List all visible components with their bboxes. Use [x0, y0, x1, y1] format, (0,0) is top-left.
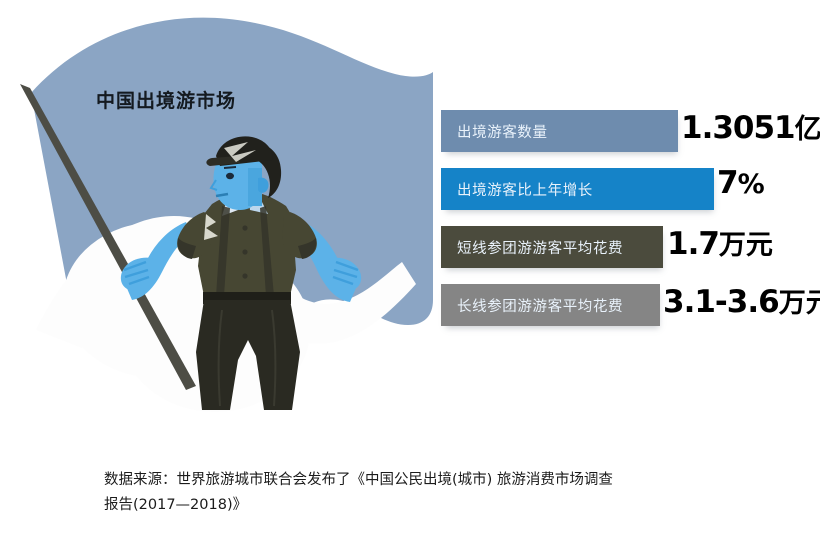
stat-bar-short-haul-spend: 短线参团游游客平均花费	[441, 226, 663, 268]
stat-value: 7%	[717, 165, 765, 201]
stats-list: 出境游客数量 1.3051亿人次 出境游客比上年增长 7% 短线参团游游客平均花…	[441, 104, 820, 336]
source-line-1: 数据来源：世界旅游城市联合会发布了《中国公民出境(城市) 旅游消费市场调查	[104, 468, 764, 493]
stat-row: 出境游客比上年增长 7%	[441, 162, 820, 220]
stat-unit: %	[738, 169, 765, 200]
eye	[226, 173, 234, 179]
flag-man-illustration	[0, 0, 440, 440]
stat-row: 长线参团游游客平均花费 3.1-3.6万元	[441, 278, 820, 336]
stat-number: 7	[717, 165, 738, 201]
stat-label: 出境游客数量	[441, 121, 548, 142]
shirt-button	[242, 249, 247, 254]
infographic-canvas: 中国出境游市场 出境游客数量 1.3051亿人次 出境游客比上年增长 7% 短线…	[0, 0, 820, 540]
stat-row: 出境游客数量 1.3051亿人次	[441, 104, 820, 162]
stat-label: 短线参团游游客平均花费	[441, 237, 623, 258]
stat-value: 1.3051亿人次	[681, 107, 820, 146]
stat-number: 3.1-3.6	[663, 284, 779, 320]
stat-unit: 亿人次	[795, 114, 820, 145]
stat-bar-outbound-tourist-count: 出境游客数量	[441, 110, 678, 152]
stat-label: 出境游客比上年增长	[441, 179, 593, 200]
source-line-2: 报告(2017—2018)》	[104, 493, 764, 518]
stat-value: 1.7万元	[667, 223, 773, 262]
stat-number: 1.7	[667, 226, 719, 262]
illustration-panel: 中国出境游市场	[0, 0, 440, 440]
shirt-button	[242, 225, 247, 230]
stat-bar-long-haul-spend: 长线参团游游客平均花费	[441, 284, 660, 326]
flag-title: 中国出境游市场	[96, 86, 236, 113]
source-note: 数据来源：世界旅游城市联合会发布了《中国公民出境(城市) 旅游消费市场调查 报告…	[104, 468, 764, 518]
stat-row: 短线参团游游客平均花费 1.7万元	[441, 220, 820, 278]
stat-unit: 万元	[779, 288, 820, 319]
stat-unit: 万元	[719, 230, 773, 261]
shirt-button	[242, 273, 247, 278]
stat-number: 1.3051	[681, 110, 795, 146]
stat-label: 长线参团游游客平均花费	[441, 295, 623, 316]
eyebrow	[224, 167, 236, 168]
stat-value: 3.1-3.6万元	[663, 281, 820, 320]
stat-bar-yoy-growth: 出境游客比上年增长	[441, 168, 714, 210]
